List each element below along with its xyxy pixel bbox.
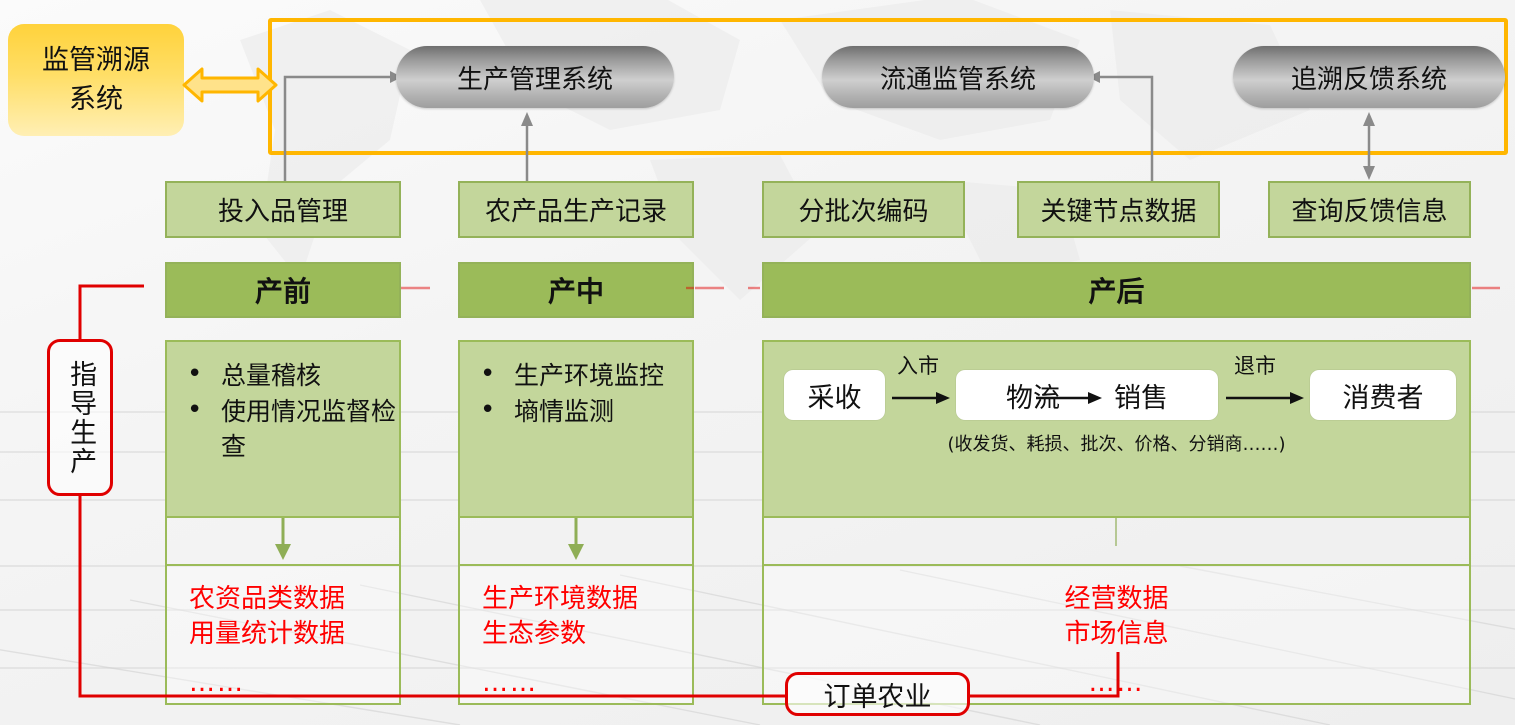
data-line: 生态参数 <box>482 617 692 652</box>
guide-production-label: 指导生产 <box>65 360 95 476</box>
system-label: 流通监管系统 <box>880 59 1036 96</box>
data-line: 生产环境数据 <box>482 582 692 617</box>
stage-down-arrow-gap <box>458 518 694 564</box>
stage-title: 产后 <box>762 262 1471 318</box>
stage-panel-pre-production: 产前 总量稽核 使用情况监督检查 农资品类数据 用量统计数据 …… <box>165 262 401 705</box>
stage-panel-post-production: 产后 采收 物流 销售 消费者 <box>762 262 1471 705</box>
module-box-produce-production-record[interactable]: 农产品生产记录 <box>458 181 694 238</box>
module-label: 投入品管理 <box>218 191 348 228</box>
module-box-key-node-data[interactable]: 关键节点数据 <box>1017 181 1220 238</box>
panel-spacer <box>458 318 694 340</box>
system-box-traceability-feedback[interactable]: 追溯反馈系统 <box>1233 46 1505 108</box>
system-label: 追溯反馈系统 <box>1291 59 1447 96</box>
stage-panel-in-production: 产中 生产环境监控 墒情监测 生产环境数据 生态参数 …… <box>458 262 694 705</box>
module-box-batch-coding[interactable]: 分批次编码 <box>762 181 965 238</box>
down-arrow-icon <box>458 518 694 564</box>
flow-edge-label-exit-market: 退市 <box>1234 350 1276 380</box>
diagram-canvas: 监管溯源 系统 生产管理系统 流通监管系统 <box>0 0 1515 725</box>
module-label: 关键节点数据 <box>1040 191 1196 228</box>
stage-bullet-list: 生产环境监控 墒情监测 <box>460 342 692 429</box>
down-arrow-icon <box>762 518 1471 564</box>
data-ellipsis: …… <box>189 666 399 701</box>
module-label: 查询反馈信息 <box>1291 191 1447 228</box>
bullet-item: 总量稽核 <box>181 358 399 394</box>
stage-body: 总量稽核 使用情况监督检查 <box>165 340 401 518</box>
stage-body: 采收 物流 销售 消费者 <box>762 340 1471 518</box>
system-box-circulation-supervision[interactable]: 流通监管系统 <box>822 46 1094 108</box>
root-system-line2: 系统 <box>69 80 123 119</box>
stage-title: 产中 <box>458 262 694 318</box>
root-system-line1: 监管溯源 <box>42 41 150 80</box>
flow-edge-label-enter-market: 入市 <box>897 350 939 380</box>
down-arrow-icon <box>165 518 401 564</box>
data-lines: 生产环境数据 生态参数 …… <box>460 582 692 701</box>
module-box-input-management[interactable]: 投入品管理 <box>165 181 401 238</box>
root-system-box[interactable]: 监管溯源 系统 <box>8 24 184 136</box>
stage-title: 产前 <box>165 262 401 318</box>
supply-chain-flow: 采收 物流 销售 消费者 <box>764 342 1469 460</box>
bidirectional-arrow-icon <box>182 64 278 106</box>
data-line: 市场信息 <box>764 617 1469 652</box>
module-box-query-feedback-info[interactable]: 查询反馈信息 <box>1268 181 1471 238</box>
system-box-production-management[interactable]: 生产管理系统 <box>396 46 674 108</box>
stage-down-arrow-gap <box>762 518 1471 564</box>
stage-data-output: 农资品类数据 用量统计数据 …… <box>165 564 401 705</box>
system-label: 生产管理系统 <box>457 59 613 96</box>
guide-production-note[interactable]: 指导生产 <box>47 339 113 496</box>
module-label: 农产品生产记录 <box>485 191 667 228</box>
module-label: 分批次编码 <box>798 191 928 228</box>
stage-bullet-list: 总量稽核 使用情况监督检查 <box>167 342 399 465</box>
stage-body: 生产环境监控 墒情监测 <box>458 340 694 518</box>
data-lines: 农资品类数据 用量统计数据 …… <box>167 582 399 701</box>
bullet-item: 墒情监测 <box>474 394 692 430</box>
data-line: 用量统计数据 <box>189 617 399 652</box>
data-ellipsis: …… <box>482 666 692 701</box>
order-agriculture-note[interactable]: 订单农业 <box>785 672 970 716</box>
data-line: 经营数据 <box>764 582 1469 617</box>
bullet-item: 生产环境监控 <box>474 358 692 394</box>
bullet-item: 使用情况监督检查 <box>181 394 399 465</box>
panel-spacer <box>762 318 1471 340</box>
stage-down-arrow-gap <box>165 518 401 564</box>
panel-spacer <box>165 318 401 340</box>
stage-data-output: 生产环境数据 生态参数 …… <box>458 564 694 705</box>
order-agriculture-label: 订单农业 <box>824 675 932 714</box>
flow-note: (收发货、耗损、批次、价格、分销商……) <box>764 430 1469 456</box>
data-line: 农资品类数据 <box>189 582 399 617</box>
